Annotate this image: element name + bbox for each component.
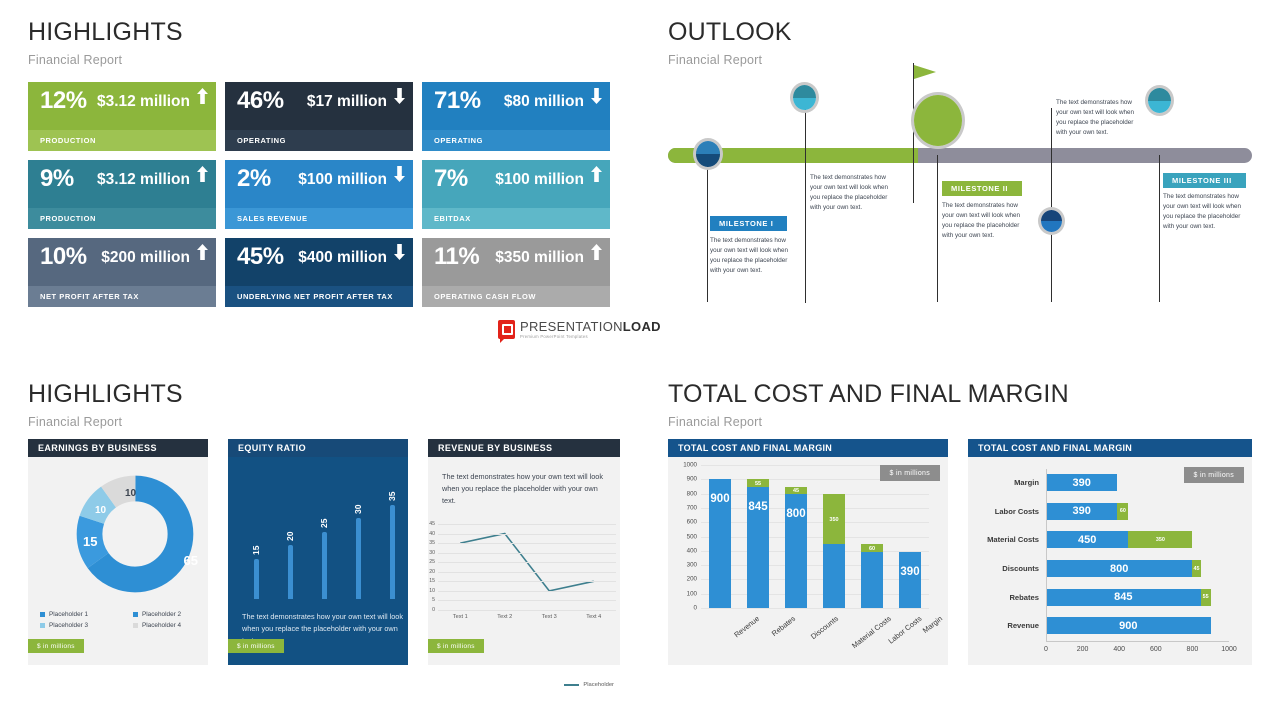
milestone-tag-3[interactable]: MILESTONE III xyxy=(1163,173,1246,188)
card-equity-ratio: EQUITY RATIO 1520253035 The text demonst… xyxy=(228,439,408,665)
column-gridline xyxy=(701,508,929,509)
milestone-label-3: MILESTONE III xyxy=(1172,176,1232,185)
badge-revenue-units: $ in millions xyxy=(428,639,484,653)
column-chart-title: TOTAL COST AND FINAL MARGIN xyxy=(678,443,832,453)
arrow-down-icon xyxy=(591,88,602,104)
kpi-value: $400 million xyxy=(298,250,387,266)
line-x-tick: Text 3 xyxy=(542,614,557,620)
revenue-line-svg xyxy=(438,524,616,624)
kpi-tile[interactable]: 10%$200 millionNET PROFIT AFTER TAX xyxy=(28,238,216,307)
timeline: MILESTONE I The text demonstrates how yo… xyxy=(668,55,1268,310)
bar-value-label: 900 xyxy=(1046,617,1211,634)
equity-bar xyxy=(288,545,293,599)
timeline-node-5[interactable] xyxy=(1145,85,1174,116)
bar-category-label: Material Costs xyxy=(987,531,1039,548)
badge-earnings-units: $ in millions xyxy=(28,639,84,653)
bar-category-label: Revenue xyxy=(1007,617,1039,634)
kpi-value: $100 million xyxy=(298,172,387,188)
timeline-text-2: The text demonstrates how your own text … xyxy=(810,173,892,213)
legend-swatch xyxy=(133,623,138,628)
kpi-tile[interactable]: 45%$400 millionUNDERLYING NET PROFIT AFT… xyxy=(225,238,413,307)
kpi-percent: 9% xyxy=(40,167,74,191)
kpi-tile[interactable]: 12%$3.12 millionPRODUCTION xyxy=(28,82,216,151)
equity-bar-label: 25 xyxy=(319,518,329,527)
page-subtitle: Financial Report xyxy=(28,53,183,67)
equity-bar xyxy=(390,505,395,600)
column-x-label: Labor Costs xyxy=(886,614,923,646)
kpi-label: PRODUCTION xyxy=(40,136,96,145)
milestone-text-3: The text demonstrates how your own text … xyxy=(1163,192,1245,232)
line-gridline xyxy=(438,534,616,535)
arrow-down-icon xyxy=(394,244,405,260)
milestone-tag-2[interactable]: MILESTONE II xyxy=(942,181,1022,196)
donut-value-4: 10 xyxy=(125,488,136,499)
kpi-label: PRODUCTION xyxy=(40,214,96,223)
column-gridline xyxy=(701,551,929,552)
column-value-label: 845 xyxy=(747,501,769,513)
timeline-text-4: The text demonstrates how your own text … xyxy=(1056,98,1138,138)
highlights-top-header: HIGHLIGHTS Financial Report xyxy=(28,20,183,67)
column-y-tick: 300 xyxy=(687,562,697,569)
bar-delta-label: 60 xyxy=(1117,503,1128,520)
timeline-stem-2 xyxy=(805,103,806,303)
badge-equity-units: $ in millions xyxy=(228,639,284,653)
equity-bar-label: 15 xyxy=(251,545,261,554)
kpi-percent: 45% xyxy=(237,245,284,269)
column-bar: 900 xyxy=(709,479,731,608)
column-delta-label: 45 xyxy=(785,488,807,494)
kpi-percent: 10% xyxy=(40,245,87,269)
legend-item: Placeholder 3 xyxy=(40,622,127,629)
timeline-stem-1 xyxy=(707,155,708,302)
column-y-tick: 800 xyxy=(687,490,697,497)
column-x-label: Rebates xyxy=(770,614,797,638)
highlights-bottom-title: HIGHLIGHTS xyxy=(28,382,183,407)
bar-chart-title: TOTAL COST AND FINAL MARGIN xyxy=(978,443,1132,453)
card-equity-title: EQUITY RATIO xyxy=(238,443,306,453)
column-x-label: Material Costs xyxy=(850,614,893,650)
timeline-stem-5 xyxy=(1159,155,1160,302)
column-segment-value xyxy=(861,552,883,608)
column-y-tick: 400 xyxy=(687,547,697,554)
kpi-tile[interactable]: 2%$100 millionSALES REVENUE xyxy=(225,160,413,229)
card-earnings-title: EARNINGS BY BUSINESS xyxy=(38,443,157,453)
bar-x-tick: 0 xyxy=(1044,646,1048,653)
kpi-percent: 7% xyxy=(434,167,468,191)
bar-delta-label: 45 xyxy=(1192,560,1200,577)
milestone-label-2: MILESTONE II xyxy=(951,184,1008,193)
column-delta-label: 55 xyxy=(747,481,769,487)
kpi-tile[interactable]: 46%$17 millionOPERATING xyxy=(225,82,413,151)
kpi-value: $3.12 million xyxy=(97,94,190,110)
total-cost-header: TOTAL COST AND FINAL MARGIN Financial Re… xyxy=(668,382,1069,429)
legend-swatch xyxy=(40,623,45,628)
bar-category-label: Discounts xyxy=(1002,560,1039,577)
bar-chart-header: TOTAL COST AND FINAL MARGIN xyxy=(968,439,1252,457)
logo-name: PRESENTATION xyxy=(520,319,623,334)
column-segment-value xyxy=(823,544,845,608)
column-y-tick: 700 xyxy=(687,504,697,511)
arrow-up-icon xyxy=(591,244,602,260)
arrow-up-icon xyxy=(197,244,208,260)
arrow-up-icon xyxy=(591,166,602,182)
column-x-label: Margin xyxy=(921,614,944,635)
column-delta-label: 350 xyxy=(823,517,845,523)
line-y-tick: 25 xyxy=(429,559,435,565)
timeline-stem-3 xyxy=(937,155,938,302)
card-revenue-text: The text demonstrates how your own text … xyxy=(442,471,610,506)
bar-x-axis xyxy=(1046,641,1229,642)
kpi-label: NET PROFIT AFTER TAX xyxy=(40,292,139,301)
line-gridline xyxy=(438,562,616,563)
bar-x-tick: 600 xyxy=(1150,646,1162,653)
column-value-label: 390 xyxy=(899,566,921,578)
kpi-percent: 46% xyxy=(237,89,284,113)
column-y-tick: 600 xyxy=(687,519,697,526)
donut-legend: Placeholder 1Placeholder 2Placeholder 3P… xyxy=(40,611,220,629)
legend-label: Placeholder 2 xyxy=(142,611,181,618)
kpi-percent: 71% xyxy=(434,89,481,113)
column-gridline xyxy=(701,579,929,580)
card-equity-header: EQUITY RATIO xyxy=(228,439,408,457)
line-y-tick: 0 xyxy=(432,607,435,613)
column-value-label: 800 xyxy=(785,508,807,520)
presentationload-logo: PRESENTATIONLOAD Premium PowerPoint Temp… xyxy=(498,320,661,339)
column-bar: 80045 xyxy=(785,487,807,608)
page-title: HIGHLIGHTS xyxy=(28,20,183,45)
revenue-legend-label: Placeholder xyxy=(583,682,614,688)
column-gridline xyxy=(701,608,929,609)
kpi-value: $350 million xyxy=(495,250,584,266)
line-y-tick: 5 xyxy=(432,597,435,603)
column-x-label: Discounts xyxy=(809,614,840,641)
kpi-percent: 11% xyxy=(434,245,479,269)
bar-category-label: Rebates xyxy=(1009,589,1039,606)
line-y-tick: 30 xyxy=(429,550,435,556)
line-gridline xyxy=(438,543,616,544)
column-x-label: Revenue xyxy=(732,614,761,639)
line-gridline xyxy=(438,553,616,554)
column-y-tick: 100 xyxy=(687,590,697,597)
bar-delta-label: 350 xyxy=(1128,531,1192,548)
timeline-node-1[interactable] xyxy=(693,138,723,170)
column-bar: 60 xyxy=(861,544,883,608)
card-earnings-by-business: EARNINGS BY BUSINESS 65 15 10 10 Placeho… xyxy=(28,439,208,665)
column-bar: 84555 xyxy=(747,479,769,608)
bar-value-label: 390 xyxy=(1046,503,1117,520)
kpi-tile[interactable]: 71%$80 millionOPERATING xyxy=(422,82,610,151)
kpi-value: $17 million xyxy=(307,94,387,110)
card-revenue-title: REVENUE BY BUSINESS xyxy=(438,443,552,453)
bar-x-tick: 200 xyxy=(1077,646,1089,653)
donut-chart: 65 15 10 10 xyxy=(75,474,195,594)
milestone-text-1: The text demonstrates how your own text … xyxy=(710,236,792,276)
line-gridline xyxy=(438,600,616,601)
kpi-value: $80 million xyxy=(504,94,584,110)
equity-bar xyxy=(254,559,259,600)
bar-row: Labor Costs39060 xyxy=(1046,503,1229,520)
line-y-tick: 35 xyxy=(429,540,435,546)
column-chart-header: TOTAL COST AND FINAL MARGIN xyxy=(668,439,948,457)
timeline-node-3[interactable] xyxy=(911,92,965,149)
line-gridline xyxy=(438,610,616,611)
line-y-tick: 45 xyxy=(429,521,435,527)
kpi-label: UNDERLYING NET PROFIT AFTER TAX xyxy=(237,292,393,301)
bar-x-tick: 800 xyxy=(1187,646,1199,653)
bar-row: Discounts80045 xyxy=(1046,560,1229,577)
bar-value-label: 800 xyxy=(1046,560,1192,577)
kpi-value: $3.12 million xyxy=(97,172,190,188)
badge-bar-units: $ in millions xyxy=(1184,467,1244,483)
logo-name-bold: LOAD xyxy=(623,319,661,334)
kpi-grid: 12%$3.12 millionPRODUCTION46%$17 million… xyxy=(28,82,610,307)
bar-category-label: Margin xyxy=(1014,474,1039,491)
bar-row: Material Costs450350 xyxy=(1046,531,1229,548)
logo-speech-bubble-icon xyxy=(498,320,515,339)
revenue-legend: Placeholder xyxy=(564,682,614,688)
highlights-bottom-header: HIGHLIGHTS Financial Report xyxy=(28,382,183,429)
card-revenue-by-business: REVENUE BY BUSINESS The text demonstrate… xyxy=(428,439,620,665)
kpi-label: SALES REVENUE xyxy=(237,214,308,223)
legend-item: Placeholder 2 xyxy=(133,611,220,618)
total-cost-subtitle: Financial Report xyxy=(668,415,1069,429)
column-gridline xyxy=(701,522,929,523)
column-segment-value xyxy=(899,552,921,608)
kpi-label: OPERATING CASH FLOW xyxy=(434,292,536,301)
column-gridline xyxy=(701,565,929,566)
column-gridline xyxy=(701,537,929,538)
timeline-node-2[interactable] xyxy=(790,82,819,113)
donut-value-3: 10 xyxy=(95,505,106,516)
milestone-label-1: MILESTONE I xyxy=(719,219,773,228)
kpi-label: OPERATING xyxy=(434,136,483,145)
line-gridline xyxy=(438,581,616,582)
highlights-bottom-subtitle: Financial Report xyxy=(28,415,183,429)
column-value-label: 900 xyxy=(709,493,731,505)
line-gridline xyxy=(438,572,616,573)
card-earnings-header: EARNINGS BY BUSINESS xyxy=(28,439,208,457)
bar-row: Rebates84555 xyxy=(1046,589,1229,606)
column-y-tick: 1000 xyxy=(683,462,697,469)
legend-swatch xyxy=(133,612,138,617)
legend-swatch xyxy=(40,612,45,617)
column-delta-label: 60 xyxy=(861,546,883,552)
arrow-down-icon xyxy=(394,166,405,182)
kpi-label: OPERATING xyxy=(237,136,286,145)
line-gridline xyxy=(438,591,616,592)
timeline-node-4[interactable] xyxy=(1038,207,1065,235)
equity-bar-label: 35 xyxy=(387,491,397,500)
line-y-tick: 40 xyxy=(429,531,435,537)
column-y-tick: 0 xyxy=(694,605,697,612)
line-y-tick: 10 xyxy=(429,588,435,594)
bar-plot: Margin390Labor Costs39060Material Costs4… xyxy=(1046,469,1229,641)
kpi-value: $200 million xyxy=(101,250,190,266)
logo-tagline: Premium PowerPoint Templates xyxy=(520,335,661,339)
card-revenue-header: REVENUE BY BUSINESS xyxy=(428,439,620,457)
milestone-tag-1[interactable]: MILESTONE I xyxy=(710,216,787,231)
legend-item: Placeholder 1 xyxy=(40,611,127,618)
line-y-tick: 15 xyxy=(429,578,435,584)
donut-value-2: 15 xyxy=(83,534,97,549)
line-x-tick: Text 1 xyxy=(453,614,468,620)
column-y-tick: 200 xyxy=(687,576,697,583)
milestone-text-2: The text demonstrates how your own text … xyxy=(942,201,1024,241)
column-y-tick: 500 xyxy=(687,533,697,540)
card-total-cost-bar: TOTAL COST AND FINAL MARGIN Margin390Lab… xyxy=(968,439,1252,665)
donut-value-1: 65 xyxy=(184,553,198,568)
line-x-tick: Text 4 xyxy=(586,614,601,620)
bar-category-label: Labor Costs xyxy=(995,503,1039,520)
timeline-stem-4 xyxy=(1051,108,1052,302)
equity-bar-label: 20 xyxy=(285,532,295,541)
legend-label: Placeholder 1 xyxy=(49,611,88,618)
bar-row: Revenue900 xyxy=(1046,617,1229,634)
line-x-tick: Text 2 xyxy=(497,614,512,620)
bar-value-label: 390 xyxy=(1046,474,1117,491)
revenue-line-chart: 454035302520151050Text 1Text 2Text 3Text… xyxy=(438,524,616,624)
equity-bar xyxy=(356,518,361,599)
column-y-tick: 900 xyxy=(687,476,697,483)
kpi-tile[interactable]: 7%$100 millionEBITDAX xyxy=(422,160,610,229)
bar-delta-label: 55 xyxy=(1201,589,1211,606)
column-gridline xyxy=(701,494,929,495)
column-bar: 350 xyxy=(823,494,845,608)
legend-item: Placeholder 4 xyxy=(133,622,220,629)
legend-label: Placeholder 3 xyxy=(49,622,88,629)
bar-value-label: 845 xyxy=(1046,589,1201,606)
kpi-label: EBITDAX xyxy=(434,214,471,223)
arrow-down-icon xyxy=(394,88,405,104)
kpi-percent: 12% xyxy=(40,89,87,113)
outlook-title: OUTLOOK xyxy=(668,20,792,45)
bar-value-label: 450 xyxy=(1046,531,1128,548)
kpi-value: $100 million xyxy=(495,172,584,188)
badge-column-units: $ in millions xyxy=(880,465,940,481)
bar-y-axis xyxy=(1046,469,1047,641)
card-total-cost-column: TOTAL COST AND FINAL MARGIN 100090080070… xyxy=(668,439,948,665)
line-gridline xyxy=(438,524,616,525)
arrow-up-icon xyxy=(197,88,208,104)
equity-bar xyxy=(322,532,327,600)
kpi-tile[interactable]: 11%$350 millionOPERATING CASH FLOW xyxy=(422,238,610,307)
total-cost-title: TOTAL COST AND FINAL MARGIN xyxy=(668,382,1069,407)
equity-bar-label: 30 xyxy=(353,505,363,514)
equity-bar-chart: 1520253035 xyxy=(244,479,419,599)
revenue-legend-swatch xyxy=(564,684,579,686)
bar-x-tick: 400 xyxy=(1113,646,1125,653)
kpi-percent: 2% xyxy=(237,167,271,191)
column-bar: 390 xyxy=(899,552,921,608)
bar-x-tick: 1000 xyxy=(1221,646,1237,653)
line-y-tick: 20 xyxy=(429,569,435,575)
arrow-up-icon xyxy=(197,166,208,182)
column-gridline xyxy=(701,594,929,595)
kpi-tile[interactable]: 9%$3.12 millionPRODUCTION xyxy=(28,160,216,229)
column-plot: 10009008007006005004003002001000900Reven… xyxy=(701,465,929,608)
legend-label: Placeholder 4 xyxy=(142,622,181,629)
